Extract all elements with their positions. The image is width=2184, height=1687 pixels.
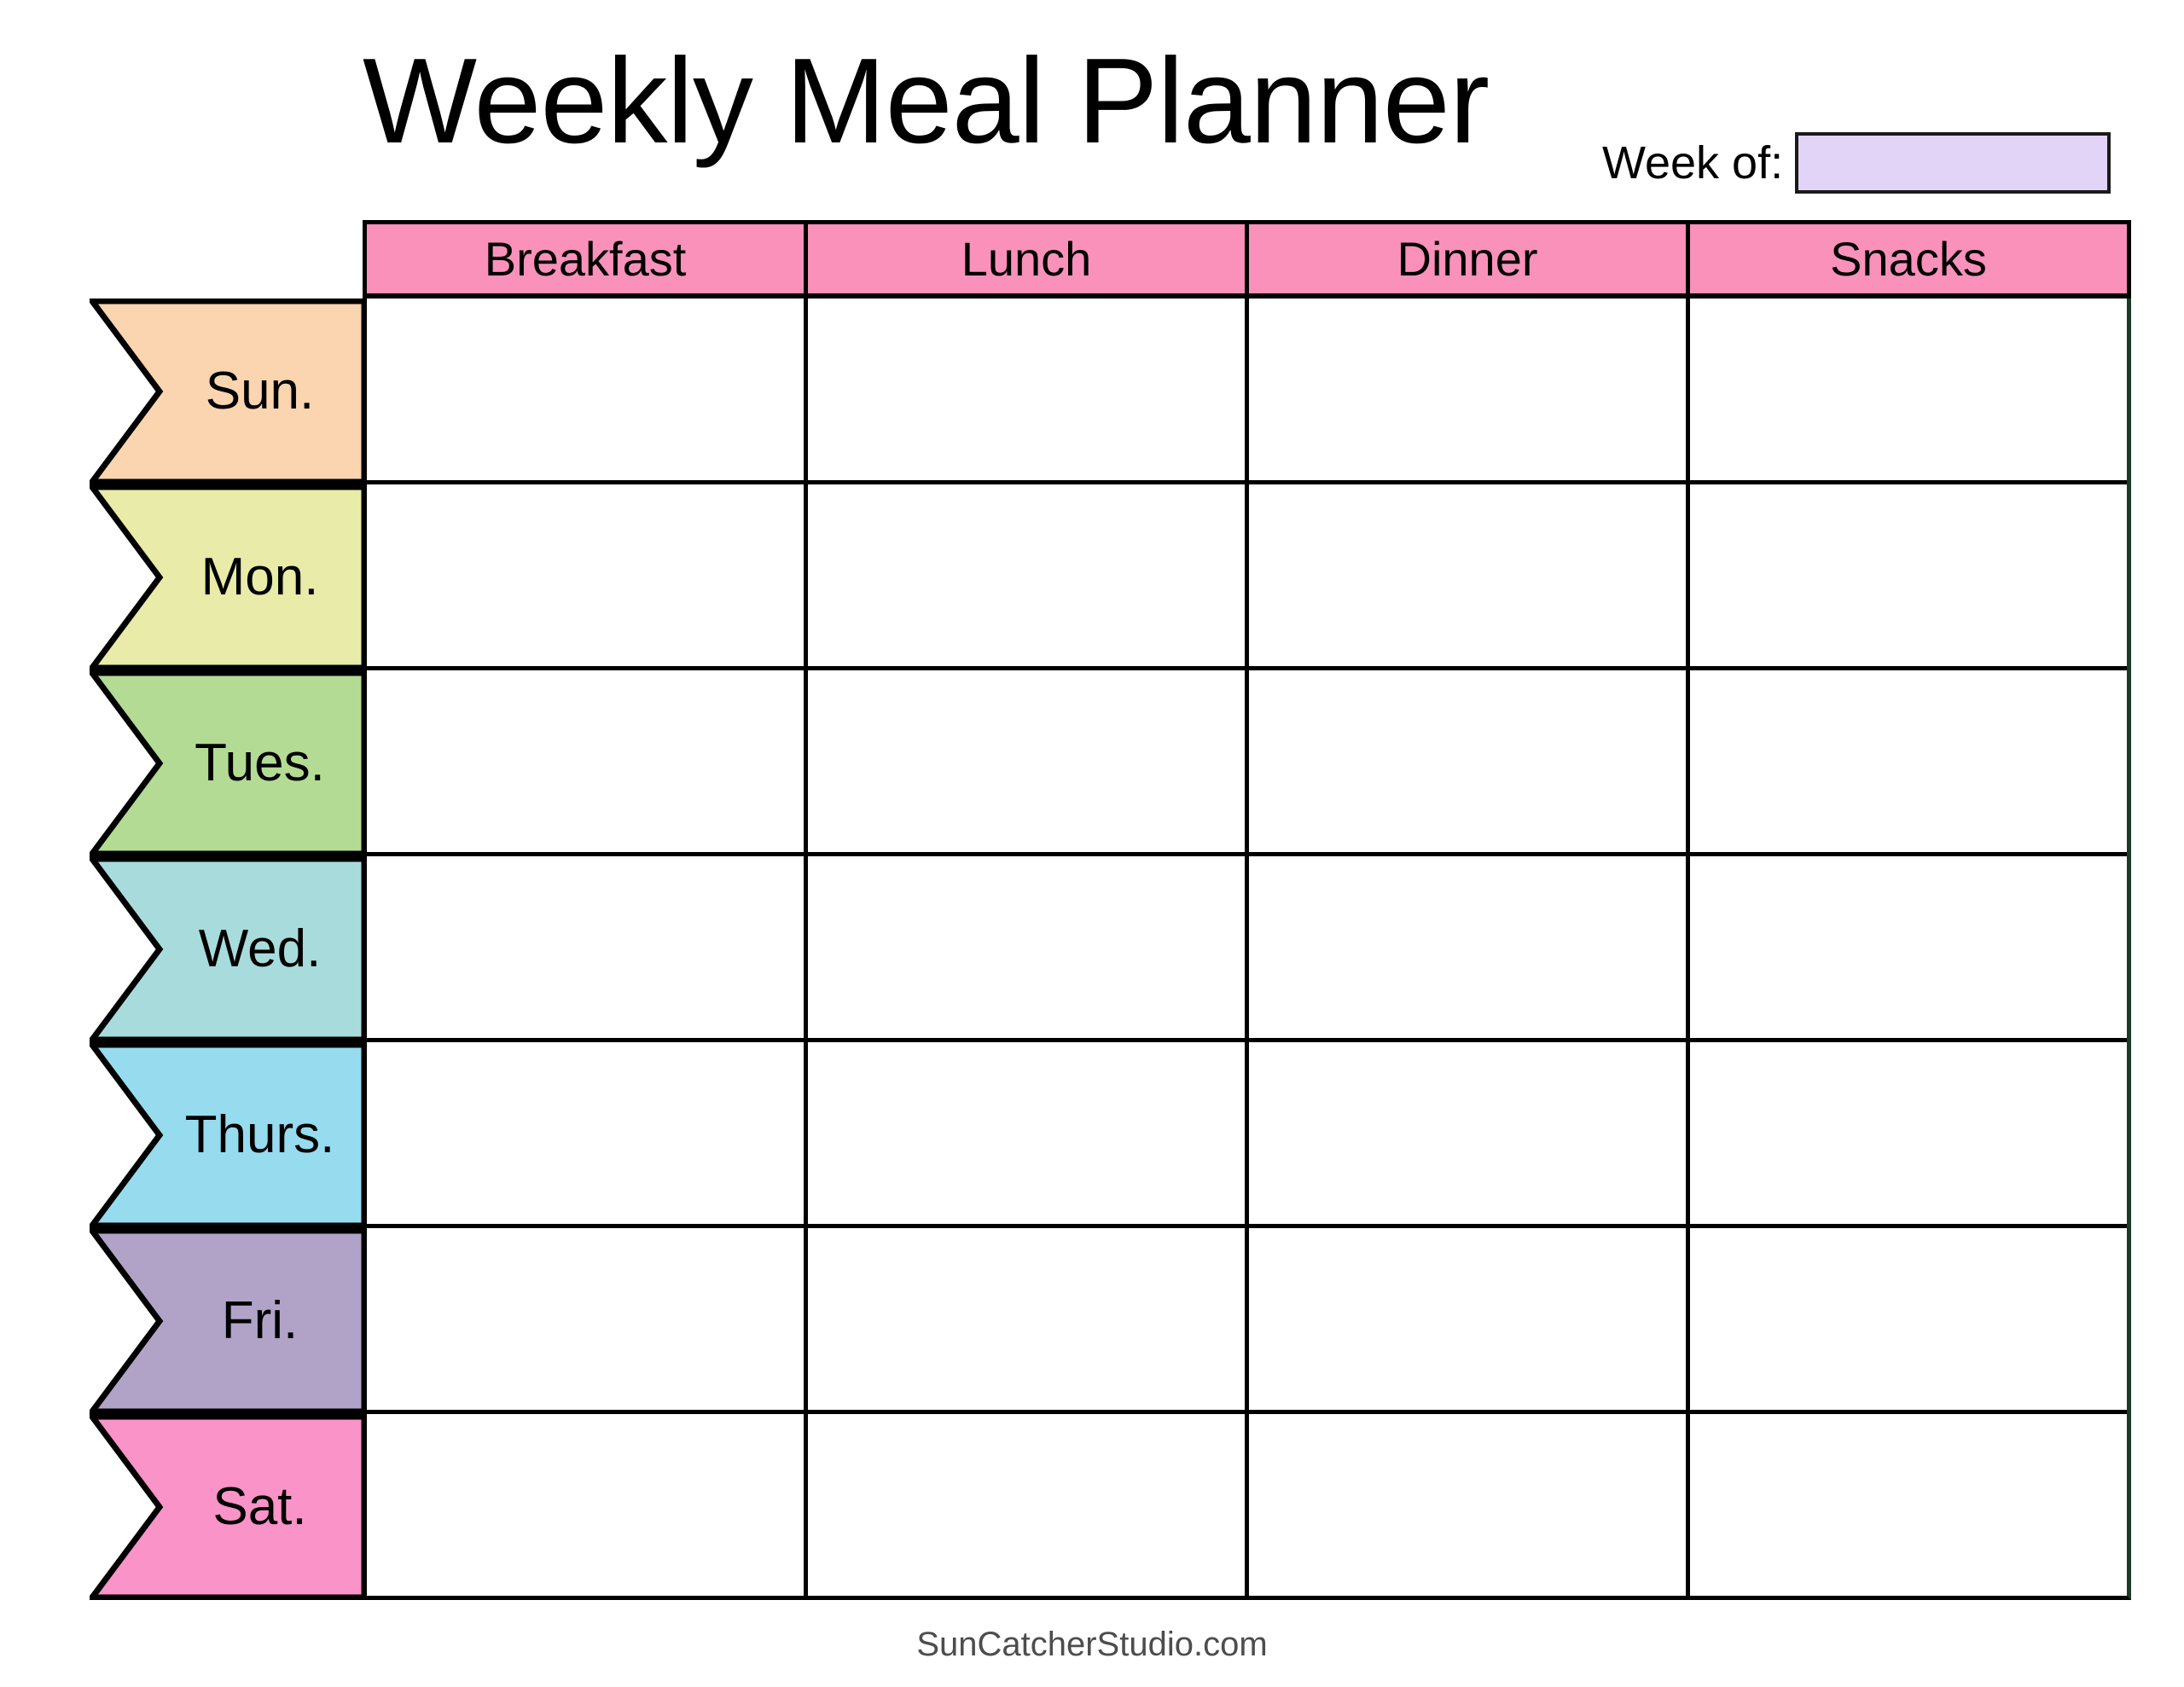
meal-cell-tues-breakfast[interactable]	[367, 670, 804, 852]
day-label-column: Sun.Mon.Tues.Wed.Thurs.Fri.Sat.	[0, 299, 375, 1600]
meal-cell-sat-snacks[interactable]	[1690, 1414, 2127, 1596]
day-tab-label: Wed.	[90, 923, 367, 976]
table-column-headers: BreakfastLunchDinnerSnacks	[363, 220, 2131, 299]
day-tab-label: Sun.	[90, 365, 367, 418]
column-header-snacks: Snacks	[1690, 224, 2127, 293]
column-header-label: Lunch	[961, 235, 1092, 283]
column-header-lunch: Lunch	[808, 224, 1245, 293]
table-row	[367, 484, 2127, 670]
day-tab-label: Thurs.	[90, 1109, 367, 1162]
meal-cell-sat-breakfast[interactable]	[367, 1414, 804, 1596]
meal-cell-fri-breakfast[interactable]	[367, 1228, 804, 1410]
day-tab-sat: Sat.	[90, 1414, 367, 1600]
meal-cell-mon-snacks[interactable]	[1690, 484, 2127, 666]
column-header-label: Dinner	[1397, 235, 1538, 283]
table-row	[367, 670, 2127, 856]
meal-cell-thurs-dinner[interactable]	[1249, 1042, 1686, 1224]
meal-cell-tues-lunch[interactable]	[808, 670, 1245, 852]
meal-cell-mon-breakfast[interactable]	[367, 484, 804, 666]
day-tab-label: Mon.	[90, 551, 367, 604]
planner-page: Weekly Meal Planner Week of: BreakfastLu…	[0, 0, 2184, 1687]
day-tab-sun: Sun.	[90, 299, 367, 484]
table-row	[367, 299, 2127, 484]
meal-cell-wed-snacks[interactable]	[1690, 856, 2127, 1038]
meal-cell-fri-dinner[interactable]	[1249, 1228, 1686, 1410]
column-header-breakfast: Breakfast	[367, 224, 804, 293]
meal-cell-sun-breakfast[interactable]	[367, 299, 804, 480]
meal-cell-thurs-lunch[interactable]	[808, 1042, 1245, 1224]
meal-cell-fri-snacks[interactable]	[1690, 1228, 2127, 1410]
table-row	[367, 1042, 2127, 1228]
meal-cell-mon-lunch[interactable]	[808, 484, 1245, 666]
day-tab-fri: Fri.	[90, 1228, 367, 1414]
day-tab-tues: Tues.	[90, 670, 367, 856]
column-header-dinner: Dinner	[1249, 224, 1686, 293]
day-tab-thurs: Thurs.	[90, 1042, 367, 1228]
column-header-label: Snacks	[1830, 235, 1987, 283]
meal-cell-sun-lunch[interactable]	[808, 299, 1245, 480]
meal-cell-fri-lunch[interactable]	[808, 1228, 1245, 1410]
meal-cell-mon-dinner[interactable]	[1249, 484, 1686, 666]
table-row	[367, 1228, 2127, 1414]
meal-cell-wed-lunch[interactable]	[808, 856, 1245, 1038]
column-header-label: Breakfast	[485, 235, 687, 283]
meal-cell-thurs-breakfast[interactable]	[367, 1042, 804, 1224]
footer-credit: SunCatcherStudio.com	[0, 1627, 2184, 1661]
day-tab-label: Fri.	[90, 1295, 367, 1348]
meal-cell-sun-snacks[interactable]	[1690, 299, 2127, 480]
meal-planner-table: BreakfastLunchDinnerSnacks Sun.Mon.Tues.…	[0, 0, 2184, 1687]
day-tab-wed: Wed.	[90, 856, 367, 1042]
meal-cell-tues-snacks[interactable]	[1690, 670, 2127, 852]
table-row	[367, 856, 2127, 1042]
day-tab-label: Sat.	[90, 1481, 367, 1533]
day-tab-mon: Mon.	[90, 484, 367, 670]
day-tab-label: Tues.	[90, 737, 367, 790]
meal-cell-tues-dinner[interactable]	[1249, 670, 1686, 852]
meal-cell-sat-lunch[interactable]	[808, 1414, 1245, 1596]
meal-cell-wed-dinner[interactable]	[1249, 856, 1686, 1038]
table-body	[363, 299, 2131, 1600]
meal-cell-sat-dinner[interactable]	[1249, 1414, 1686, 1596]
meal-cell-wed-breakfast[interactable]	[367, 856, 804, 1038]
meal-cell-sun-dinner[interactable]	[1249, 299, 1686, 480]
table-row	[367, 1414, 2127, 1596]
meal-cell-thurs-snacks[interactable]	[1690, 1042, 2127, 1224]
